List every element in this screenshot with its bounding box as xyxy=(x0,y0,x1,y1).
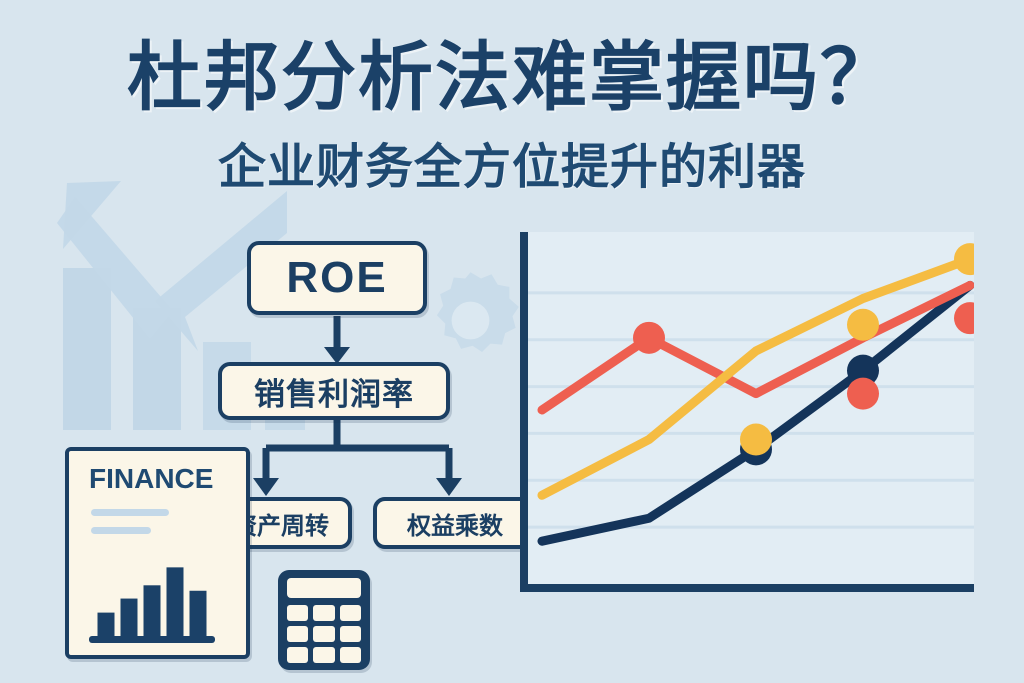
document-bar xyxy=(98,613,115,636)
chart-marker-series-amber xyxy=(847,309,879,341)
flow-node-roe[interactable]: ROE xyxy=(247,241,427,315)
flow-node-equity-multiplier-label: 权益乘数 xyxy=(407,506,503,541)
finance-document-bar-chart xyxy=(87,544,217,644)
chart-marker-series-amber xyxy=(740,424,772,456)
calculator-key[interactable] xyxy=(340,647,361,663)
page-title: 杜邦分析法难掌握吗？ xyxy=(0,38,1024,116)
poster-canvas: 杜邦分析法难掌握吗？ 企业财务全方位提升的利器 ROE 销售利润率 总资产周转 … xyxy=(0,0,1024,683)
calculator-key[interactable] xyxy=(313,605,334,621)
calculator-key[interactable] xyxy=(340,605,361,621)
document-bar xyxy=(167,567,184,636)
flow-node-profit-margin[interactable]: 销售利润率 xyxy=(218,362,450,420)
chart-marker-series-coral xyxy=(633,322,665,354)
calculator-key[interactable] xyxy=(287,605,308,621)
page-subtitle: 企业财务全方位提升的利器 xyxy=(0,142,1024,195)
line-chart-panel xyxy=(518,232,974,592)
calculator-keypad[interactable] xyxy=(287,605,361,663)
finance-document-title: FINANCE xyxy=(89,463,213,495)
document-bar xyxy=(121,599,138,636)
document-bar xyxy=(144,585,161,636)
calculator-key[interactable] xyxy=(340,626,361,642)
flow-node-profit-margin-label: 销售利润率 xyxy=(254,369,414,414)
calculator-key[interactable] xyxy=(313,647,334,663)
calculator-key[interactable] xyxy=(313,626,334,642)
line-chart xyxy=(518,232,974,592)
calculator-key[interactable] xyxy=(287,626,308,642)
finance-document-card[interactable]: FINANCE xyxy=(65,447,250,659)
document-text-line xyxy=(91,527,151,534)
document-bar xyxy=(190,591,207,636)
flow-node-equity-multiplier[interactable]: 权益乘数 xyxy=(373,497,537,549)
chart-marker-series-coral xyxy=(847,378,879,410)
document-text-line xyxy=(91,509,169,516)
calculator-icon[interactable] xyxy=(278,570,370,670)
flow-node-roe-label: ROE xyxy=(286,253,387,303)
calculator-display xyxy=(287,578,361,598)
calculator-key[interactable] xyxy=(287,647,308,663)
